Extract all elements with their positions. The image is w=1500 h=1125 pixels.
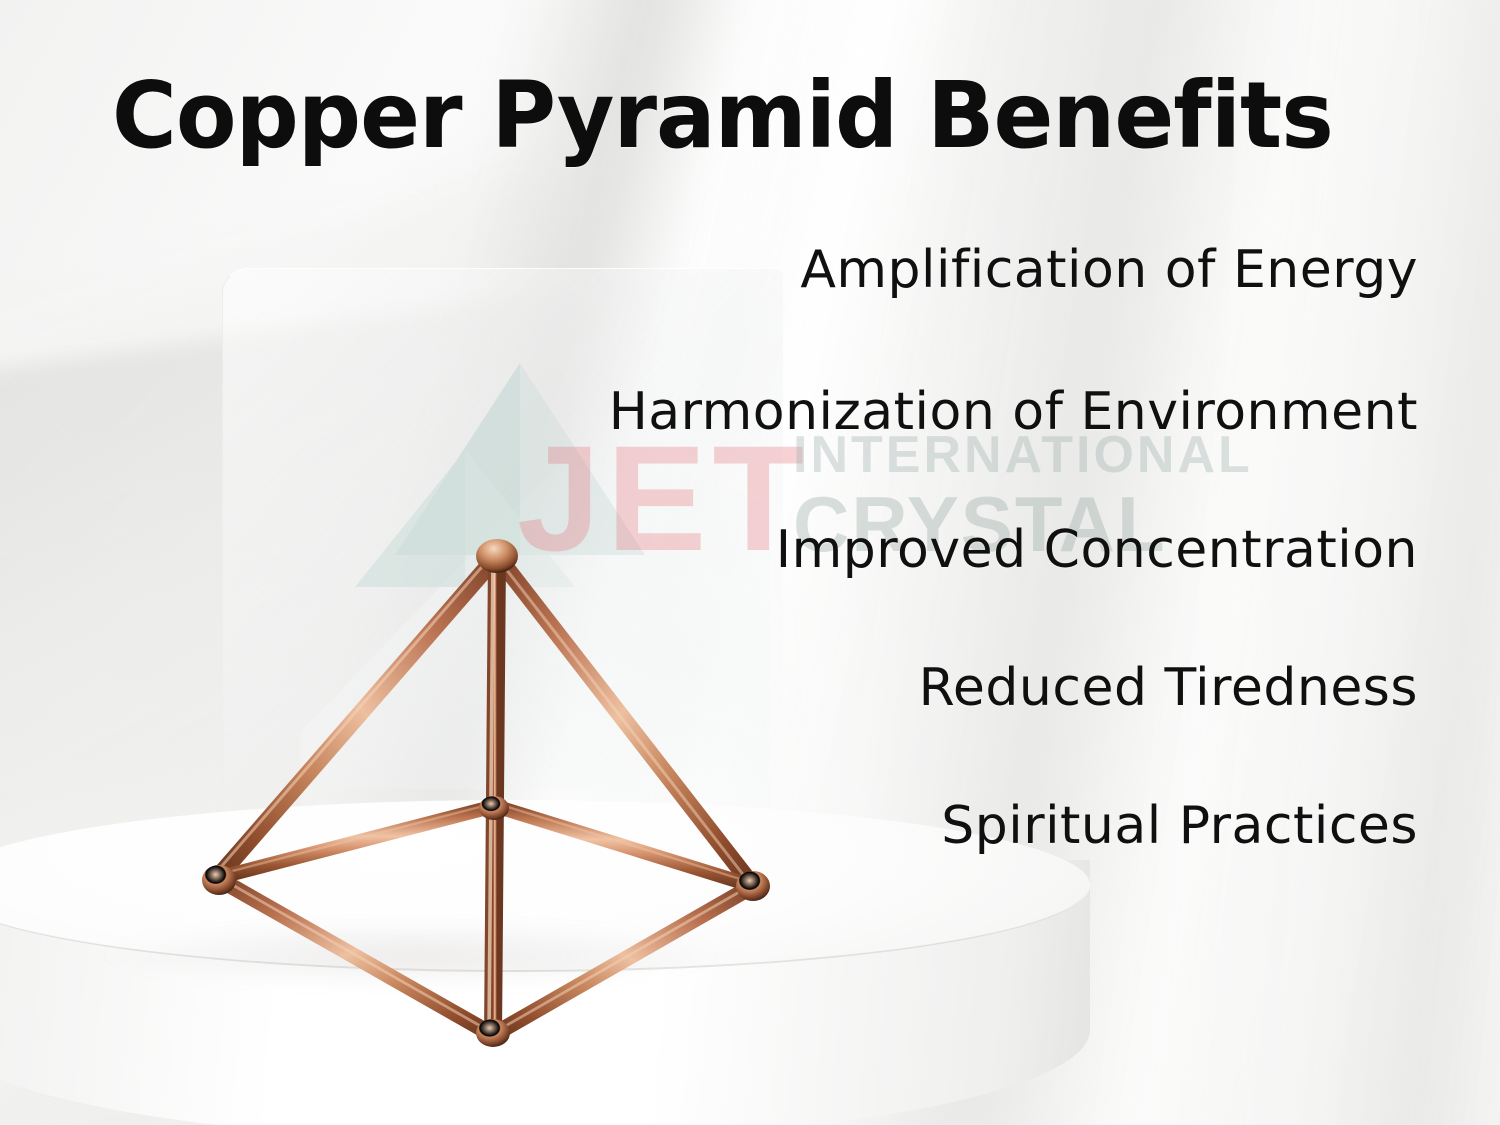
benefit-item-amplification-of-energy: Amplification of Energy [0,244,1418,296]
benefit-item-spiritual-practices: Spiritual Practices [0,800,1418,852]
benefit-item-reduced-tiredness: Reduced Tiredness [0,662,1418,714]
pyramid-joint-front [476,1019,510,1047]
benefits-list: Amplification of Energy Harmonization of… [0,244,1418,852]
pyramid-joint-right [736,871,770,901]
pyramid-base-front-right [493,883,755,1035]
pyramid-base-front-left [215,875,493,1035]
benefit-item-harmonization-of-environment: Harmonization of Environment [0,386,1418,438]
promo-graphic: JET INTERNATIONAL CRYSTAL [0,0,1500,1125]
page-title: Copper Pyramid Benefits [112,70,1333,162]
benefit-item-improved-concentration: Improved Concentration [0,524,1418,576]
pyramid-joint-left [202,865,236,895]
